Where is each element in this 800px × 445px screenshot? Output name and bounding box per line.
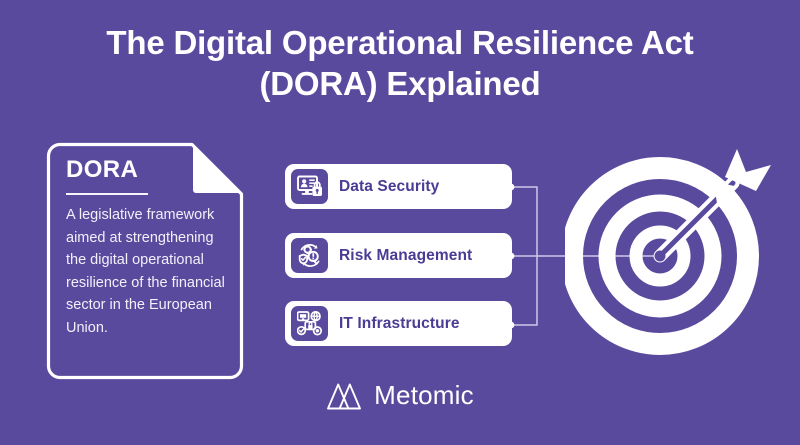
server-grid-lock-icon [291, 306, 328, 341]
target-with-arrow-icon [565, 143, 787, 355]
metomic-mountain-logo [326, 381, 362, 411]
dora-card-divider [66, 193, 148, 195]
page-title: The Digital Operational Resilience Act (… [0, 22, 800, 104]
dora-definition-card: DORA A legislative framework aimed at st… [46, 142, 244, 380]
page-title-line-2: (DORA) Explained [0, 63, 800, 104]
brand-lockup: Metomic [0, 380, 800, 411]
gear-shield-magnifier-icon [291, 238, 328, 273]
pillar-card-risk-management[interactable]: Risk Management [285, 233, 512, 278]
dora-card-content: DORA A legislative framework aimed at st… [66, 156, 226, 339]
infographic-canvas: The Digital Operational Resilience Act (… [0, 0, 800, 445]
pillar-label: Risk Management [339, 247, 472, 265]
dora-card-body: A legislative framework aimed at strengt… [66, 204, 226, 339]
brand-name: Metomic [374, 380, 474, 411]
pillar-card-data-security[interactable]: Data Security [285, 164, 512, 209]
pillar-label: IT Infrastructure [339, 315, 460, 333]
pillar-label: Data Security [339, 178, 439, 196]
monitor-user-lock-icon [291, 169, 328, 204]
dora-card-heading: DORA [66, 156, 226, 184]
pillar-card-it-infrastructure[interactable]: IT Infrastructure [285, 301, 512, 346]
page-title-line-1: The Digital Operational Resilience Act [0, 22, 800, 63]
